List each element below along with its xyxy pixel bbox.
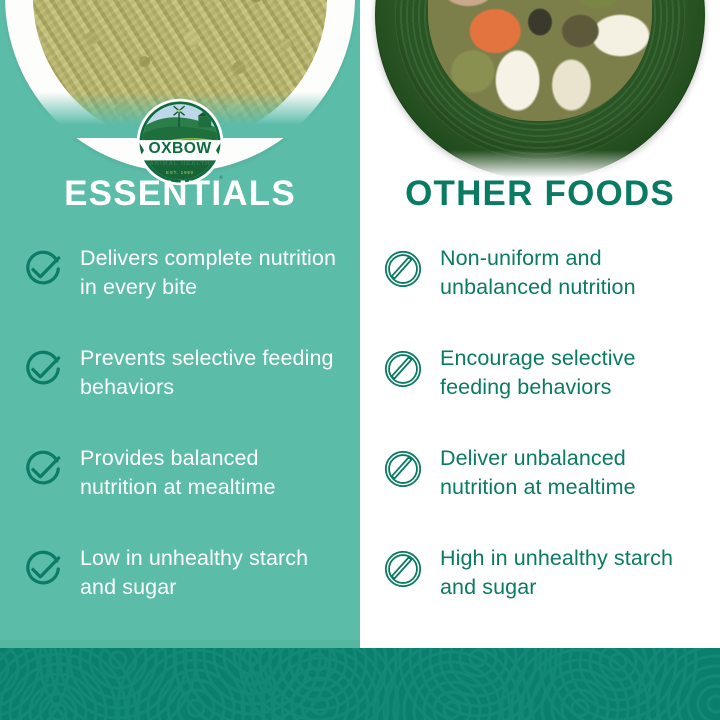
list-item: Delivers complete nutrition in every bit… [0,240,360,340]
essentials-panel: OXBOW ANIMAL HEALTH EST. 1980 ® ESSENTIA… [0,0,360,648]
list-item: High in unhealthy starch and sugar [360,540,720,640]
list-item-label: Encourage selective feeding behaviors [440,340,700,402]
list-item-label: Non-uniform and unbalanced nutrition [440,240,700,302]
list-item-label: High in unhealthy starch and sugar [440,540,700,602]
prohibited-circle-icon [382,448,424,490]
list-item-label: Provides balanced nutrition at mealtime [80,440,340,502]
other-foods-list: Non-uniform and unbalanced nutrition Enc… [360,240,720,640]
prohibited-circle-icon [382,548,424,590]
logo-wordmark: OXBOW [148,140,211,157]
check-circle-icon [22,348,64,390]
list-item: Low in unhealthy starch and sugar [0,540,360,640]
panel-bottom-strip [0,640,360,648]
list-item: Prevents selective feeding behaviors [0,340,360,440]
other-foods-heading: OTHER FOODS [360,176,720,211]
list-item: Deliver unbalanced nutrition at mealtime [360,440,720,540]
check-circle-icon [22,548,64,590]
logo-tagline: ANIMAL HEALTH [150,161,211,167]
list-item-label: Deliver unbalanced nutrition at mealtime [440,440,700,502]
other-foods-panel: OTHER FOODS Non-uniform and unbalanced n… [360,0,720,648]
list-item-label: Delivers complete nutrition in every bit… [80,240,340,302]
muesli-mix-texture [428,0,652,121]
list-item-label: Low in unhealthy starch and sugar [80,540,340,602]
list-item: Non-uniform and unbalanced nutrition [360,240,720,340]
list-item: Encourage selective feeding behaviors [360,340,720,440]
prohibited-circle-icon [382,248,424,290]
prohibited-circle-icon [382,348,424,390]
list-item: Provides balanced nutrition at mealtime [0,440,360,540]
essentials-list: Delivers complete nutrition in every bit… [0,240,360,640]
essentials-heading: ESSENTIALS [0,176,360,211]
check-circle-icon [22,448,64,490]
comparison-infographic: OXBOW ANIMAL HEALTH EST. 1980 ® ESSENTIA… [0,0,720,720]
list-item-label: Prevents selective feeding behaviors [80,340,340,402]
check-circle-icon [22,248,64,290]
pattern-layer [0,648,720,720]
concentric-circles-pattern [0,648,720,720]
